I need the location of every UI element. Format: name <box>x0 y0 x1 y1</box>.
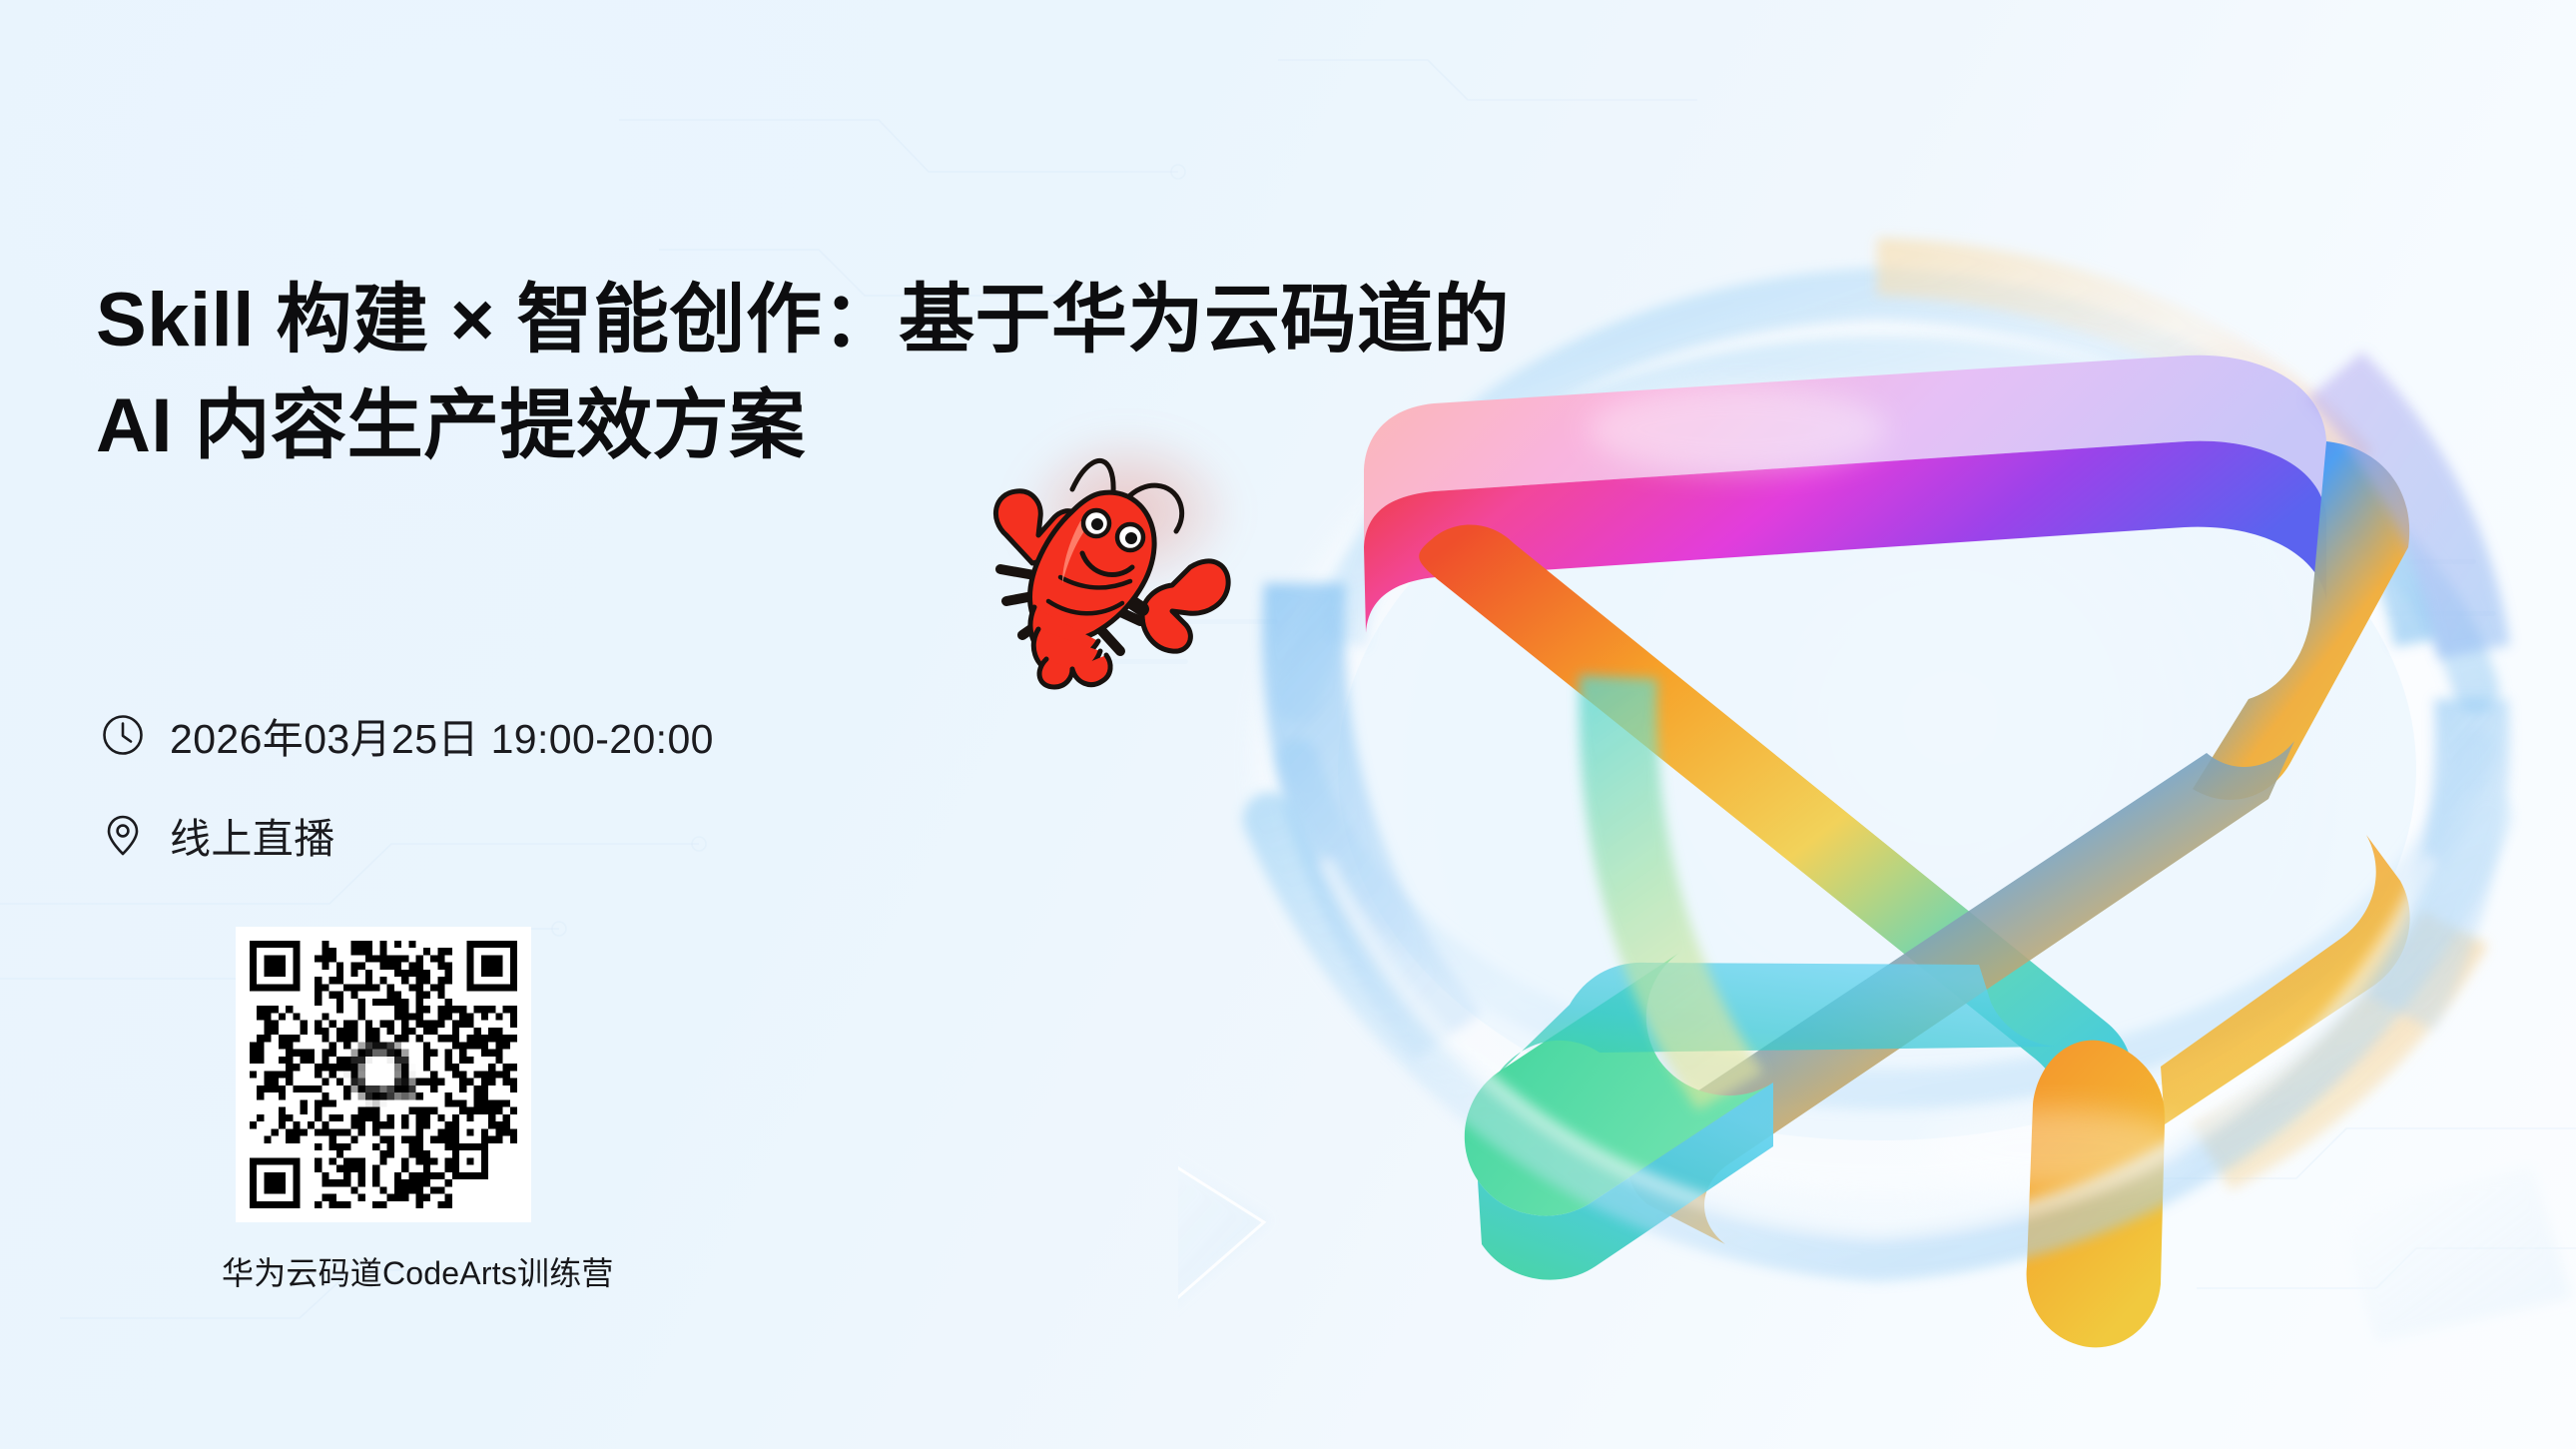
event-location-row: 线上直播 <box>100 805 714 865</box>
event-datetime-text: 2026年03月25日 19:00-20:00 <box>170 705 714 765</box>
event-location-text: 线上直播 <box>170 805 335 865</box>
qr-code-canvas[interactable] <box>250 941 517 1208</box>
event-meta: 2026年03月25日 19:00-20:00 线上直播 <box>100 705 714 905</box>
webinar-banner: Skill 构建 × 智能创作：基于华为云码道的 AI 内容生产提效方案 202… <box>0 0 2576 1449</box>
qr-code[interactable] <box>236 927 531 1222</box>
clock-icon <box>100 712 146 758</box>
event-datetime-row: 2026年03月25日 19:00-20:00 <box>100 705 714 765</box>
lobster-icon <box>976 429 1246 699</box>
3d-rainbow-ribbon-graphic <box>1178 0 2576 1449</box>
qr-block: 华为云码道CodeArts训练营 <box>236 927 531 1294</box>
map-pin-icon <box>100 812 146 858</box>
content-column: Skill 构建 × 智能创作：基于华为云码道的 AI 内容生产提效方案 202… <box>96 0 1154 1449</box>
title-line-1: Skill 构建 × 智能创作：基于华为云码道的 <box>96 278 1510 362</box>
qr-caption: 华为云码道CodeArts训练营 <box>222 1248 517 1294</box>
